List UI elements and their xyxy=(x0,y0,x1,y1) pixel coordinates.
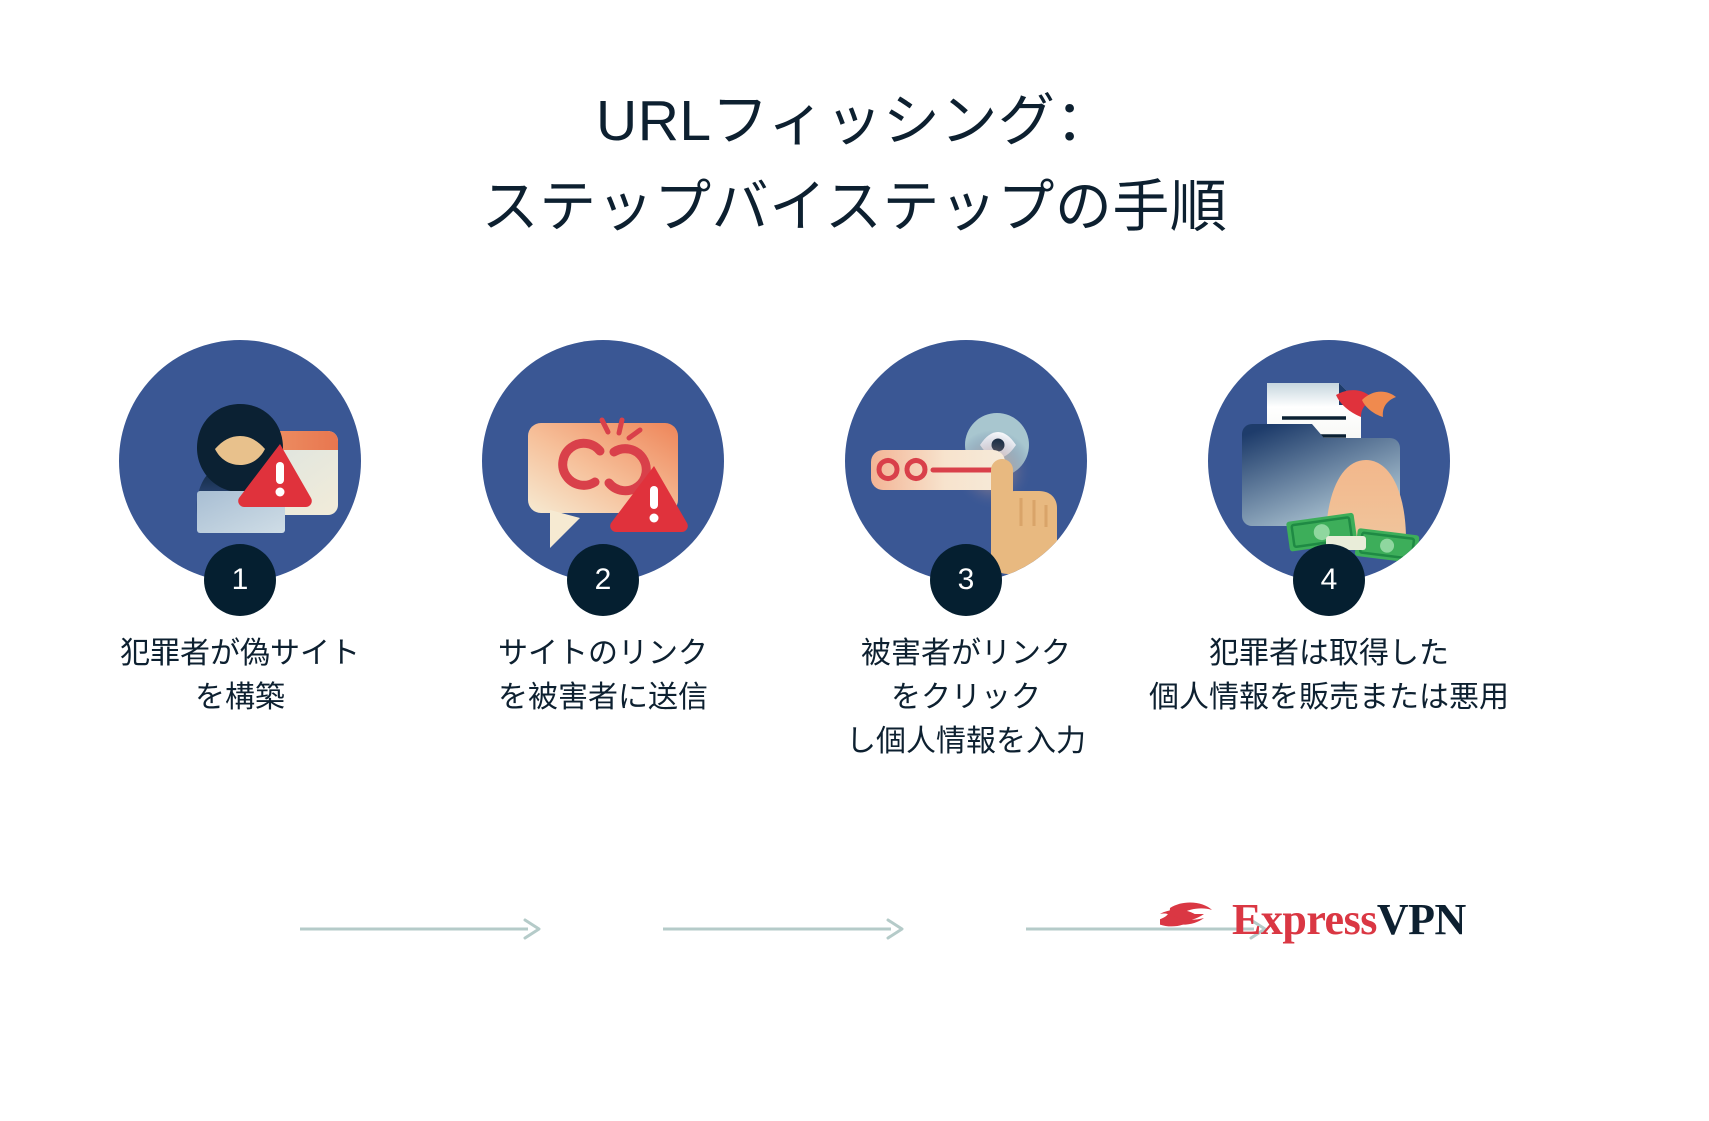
arrow-step-1-to-2 xyxy=(300,918,543,940)
step-4: 4 犯罪者は取得した 個人情報を販売または悪用 xyxy=(1146,336,1512,582)
step-2-number-badge: 2 xyxy=(567,544,639,616)
page-title: URLフィッシング： ステップバイステップの手順 xyxy=(0,78,1709,250)
step-1: 1 犯罪者が偽サイト を構築 xyxy=(57,336,423,582)
arrow-step-2-to-3 xyxy=(663,918,906,940)
title-line-2: ステップバイステップの手順 xyxy=(0,164,1709,250)
logo-express-text: Express xyxy=(1232,895,1377,944)
infographic-canvas: URLフィッシング： ステップバイステップの手順 xyxy=(0,0,1709,1121)
step-3-number-badge: 3 xyxy=(930,544,1002,616)
url-bar-icon xyxy=(871,450,1005,490)
step-1-caption: 犯罪者が偽サイト を構築 xyxy=(57,632,423,720)
step-3-caption: 被害者がリンク をクリック し個人情報を入力 xyxy=(783,632,1149,764)
step-4-number-badge: 4 xyxy=(1293,544,1365,616)
expressvpn-logo: ExpressVPN xyxy=(1160,894,1466,945)
title-line-1: URLフィッシング： xyxy=(0,78,1709,164)
logo-vpn-text: VPN xyxy=(1377,895,1466,944)
step-2: 2 サイトのリンク を被害者に送信 xyxy=(420,336,786,582)
step-3: 3 被害者がリンク をクリック し個人情報を入力 xyxy=(783,336,1149,582)
step-2-caption: サイトのリンク を被害者に送信 xyxy=(420,632,786,720)
step-4-caption: 犯罪者は取得した 個人情報を販売または悪用 xyxy=(1146,632,1512,720)
steps-row: 1 犯罪者が偽サイト を構築 xyxy=(0,336,1709,776)
step-1-number-badge: 1 xyxy=(204,544,276,616)
expressvpn-swoosh-icon xyxy=(1160,896,1218,944)
expressvpn-wordmark: ExpressVPN xyxy=(1232,894,1466,945)
